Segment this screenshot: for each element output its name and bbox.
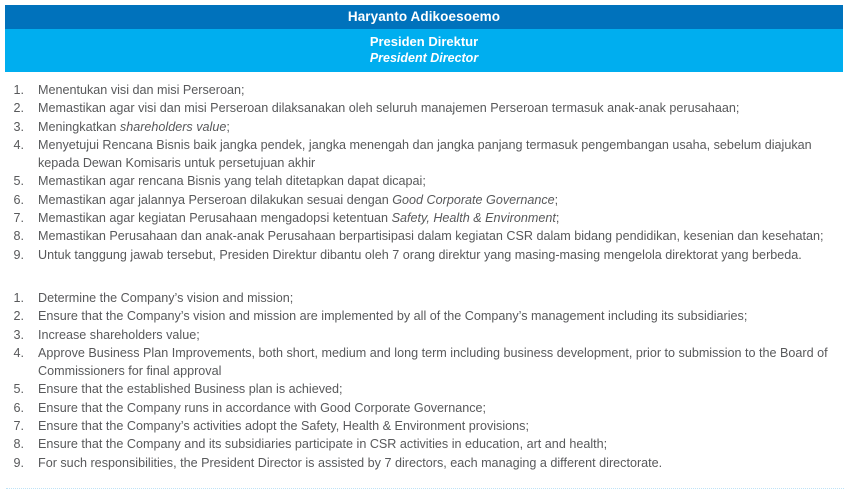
- list-item-number: 7.: [0, 417, 24, 435]
- list-item-number: 4.: [0, 136, 24, 154]
- bottom-divider: [6, 488, 844, 489]
- list-item: 4.Approve Business Plan Improvements, bo…: [0, 344, 850, 381]
- list-item-text: Approve Business Plan Improvements, both…: [38, 346, 828, 378]
- responsibilities-english-section: 1.Determine the Company’s vision and mis…: [0, 289, 850, 472]
- list-item-text: Memastikan Perusahaan dan anak-anak Peru…: [38, 229, 824, 243]
- list-item: 2.Ensure that the Company’s vision and m…: [0, 307, 850, 325]
- list-item: 1.Menentukan visi dan misi Perseroan;: [0, 81, 850, 99]
- list-item-text: Memastikan agar jalannya Perseroan dilak…: [38, 193, 558, 207]
- list-item: 6.Memastikan agar jalannya Perseroan dil…: [0, 191, 850, 209]
- list-item-text: For such responsibilities, the President…: [38, 456, 662, 470]
- list-item-text: Increase shareholders value;: [38, 328, 200, 342]
- list-item: 8.Memastikan Perusahaan dan anak-anak Pe…: [0, 227, 850, 245]
- list-item-text: Memastikan agar visi dan misi Perseroan …: [38, 101, 739, 115]
- list-item: 2.Memastikan agar visi dan misi Perseroa…: [0, 99, 850, 117]
- responsibilities-english-list: 1.Determine the Company’s vision and mis…: [0, 289, 850, 472]
- list-item-text: Ensure that the Company’s activities ado…: [38, 419, 529, 433]
- profile-header: Haryanto Adikoesoemo Presiden Direktur P…: [5, 5, 843, 72]
- list-item-text: Ensure that the established Business pla…: [38, 382, 343, 396]
- list-item-text: Ensure that the Company and its subsidia…: [38, 437, 607, 451]
- list-item-number: 3.: [0, 326, 24, 344]
- list-item-number: 6.: [0, 191, 24, 209]
- list-item: 7.Ensure that the Company’s activities a…: [0, 417, 850, 435]
- list-item: 4.Menyetujui Rencana Bisnis baik jangka …: [0, 136, 850, 173]
- list-item-text: Ensure that the Company’s vision and mis…: [38, 309, 747, 323]
- list-item-text: Determine the Company’s vision and missi…: [38, 291, 293, 305]
- list-item: 3.Increase shareholders value;: [0, 326, 850, 344]
- list-item-number: 5.: [0, 380, 24, 398]
- list-item-text: Memastikan agar rencana Bisnis yang tela…: [38, 174, 426, 188]
- list-item: 5.Ensure that the established Business p…: [0, 380, 850, 398]
- list-item-text: Untuk tanggung jawab tersebut, Presiden …: [38, 248, 802, 262]
- list-item-number: 1.: [0, 81, 24, 99]
- list-item-text: Menyetujui Rencana Bisnis baik jangka pe…: [38, 138, 812, 170]
- list-item: 1.Determine the Company’s vision and mis…: [0, 289, 850, 307]
- list-item-number: 1.: [0, 289, 24, 307]
- position-title-indonesian: Presiden Direktur: [370, 34, 478, 50]
- list-item-number: 3.: [0, 118, 24, 136]
- list-item: 9.For such responsibilities, the Preside…: [0, 454, 850, 472]
- list-item: 6.Ensure that the Company runs in accord…: [0, 399, 850, 417]
- position-title-bar: Presiden Direktur President Director: [5, 29, 843, 72]
- list-item: 7.Memastikan agar kegiatan Perusahaan me…: [0, 209, 850, 227]
- responsibilities-indonesian-section: 1.Menentukan visi dan misi Perseroan;2.M…: [0, 81, 850, 264]
- list-item: 9.Untuk tanggung jawab tersebut, Preside…: [0, 246, 850, 264]
- list-item-number: 8.: [0, 435, 24, 453]
- list-item-text: Meningkatkan shareholders value;: [38, 120, 230, 134]
- list-item-number: 4.: [0, 344, 24, 362]
- person-name-bar: Haryanto Adikoesoemo: [5, 5, 843, 29]
- responsibilities-indonesian-list: 1.Menentukan visi dan misi Perseroan;2.M…: [0, 81, 850, 264]
- list-item-number: 2.: [0, 99, 24, 117]
- person-name: Haryanto Adikoesoemo: [348, 10, 500, 24]
- list-item-text: Menentukan visi dan misi Perseroan;: [38, 83, 245, 97]
- position-title-english: President Director: [370, 50, 478, 66]
- list-item-number: 2.: [0, 307, 24, 325]
- profile-card: Haryanto Adikoesoemo Presiden Direktur P…: [0, 0, 850, 494]
- list-item-number: 8.: [0, 227, 24, 245]
- list-item: 5.Memastikan agar rencana Bisnis yang te…: [0, 172, 850, 190]
- list-item-number: 9.: [0, 246, 24, 264]
- list-item-number: 7.: [0, 209, 24, 227]
- list-item: 3.Meningkatkan shareholders value;: [0, 118, 850, 136]
- list-item-number: 5.: [0, 172, 24, 190]
- list-item-text: Ensure that the Company runs in accordan…: [38, 401, 486, 415]
- list-item-number: 6.: [0, 399, 24, 417]
- list-item: 8.Ensure that the Company and its subsid…: [0, 435, 850, 453]
- list-item-text: Memastikan agar kegiatan Perusahaan meng…: [38, 211, 559, 225]
- list-item-number: 9.: [0, 454, 24, 472]
